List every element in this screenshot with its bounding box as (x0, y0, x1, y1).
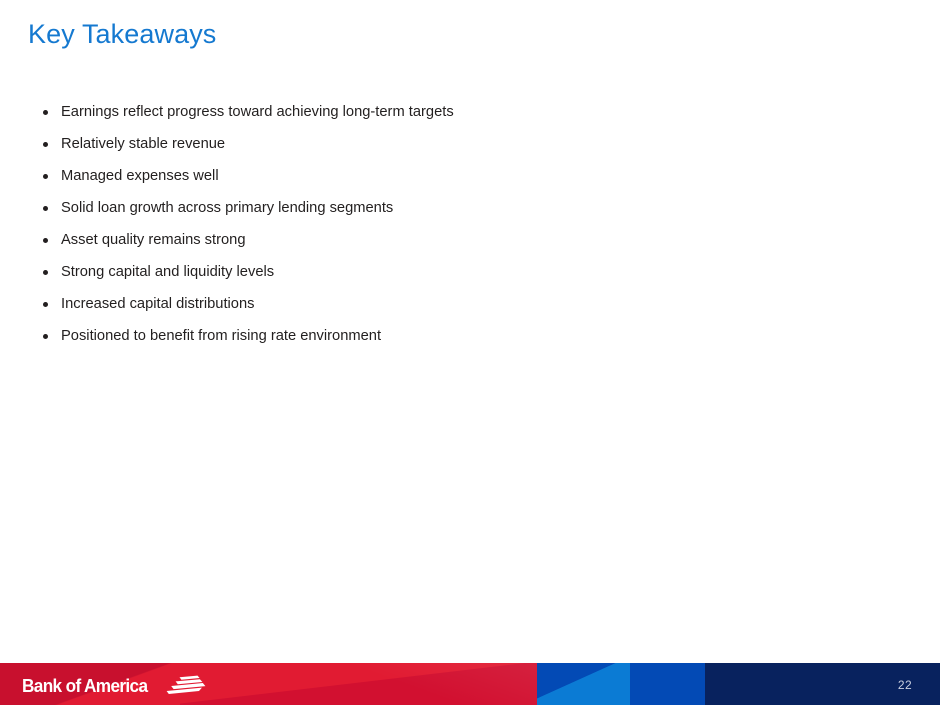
list-item-label: Increased capital distributions (61, 296, 255, 312)
list-item-label: Positioned to benefit from rising rate e… (61, 328, 381, 344)
list-item: Asset quality remains strong (40, 224, 800, 256)
bullet-point-icon (43, 270, 48, 275)
list-item-label: Managed expenses well (61, 168, 219, 184)
slide-canvas: Key Takeaways Earnings reflect progress … (0, 0, 940, 705)
bullet-point-icon (43, 142, 48, 147)
list-item: Relatively stable revenue (40, 128, 800, 160)
list-item-label: Earnings reflect progress toward achievi… (61, 104, 454, 120)
footer-band-blue-medium (630, 663, 705, 705)
bullet-point-icon (43, 110, 48, 115)
page-title: Key Takeaways (28, 19, 216, 50)
list-item-label: Solid loan growth across primary lending… (61, 200, 393, 216)
bank-of-america-flag-icon (166, 675, 206, 697)
bullet-point-icon (43, 238, 48, 243)
bullet-point-icon (43, 302, 48, 307)
list-item-label: Asset quality remains strong (61, 232, 246, 248)
bullet-point-icon (43, 174, 48, 179)
bank-of-america-logo: Bank of America (22, 673, 206, 699)
bullet-point-icon (43, 334, 48, 339)
list-item: Strong capital and liquidity levels (40, 256, 800, 288)
list-item-label: Relatively stable revenue (61, 136, 225, 152)
list-item: Managed expenses well (40, 160, 800, 192)
list-item: Earnings reflect progress toward achievi… (40, 96, 800, 128)
list-item: Increased capital distributions (40, 288, 800, 320)
logo-wordmark: Bank of America (22, 675, 147, 697)
list-item: Solid loan growth across primary lending… (40, 192, 800, 224)
list-item-label: Strong capital and liquidity levels (61, 264, 274, 280)
footer-band-blue-light (537, 663, 630, 705)
page-number: 22 (888, 678, 922, 692)
bullet-point-icon (43, 206, 48, 211)
list-item: Positioned to benefit from rising rate e… (40, 320, 800, 352)
key-takeaways-list: Earnings reflect progress toward achievi… (40, 96, 800, 352)
